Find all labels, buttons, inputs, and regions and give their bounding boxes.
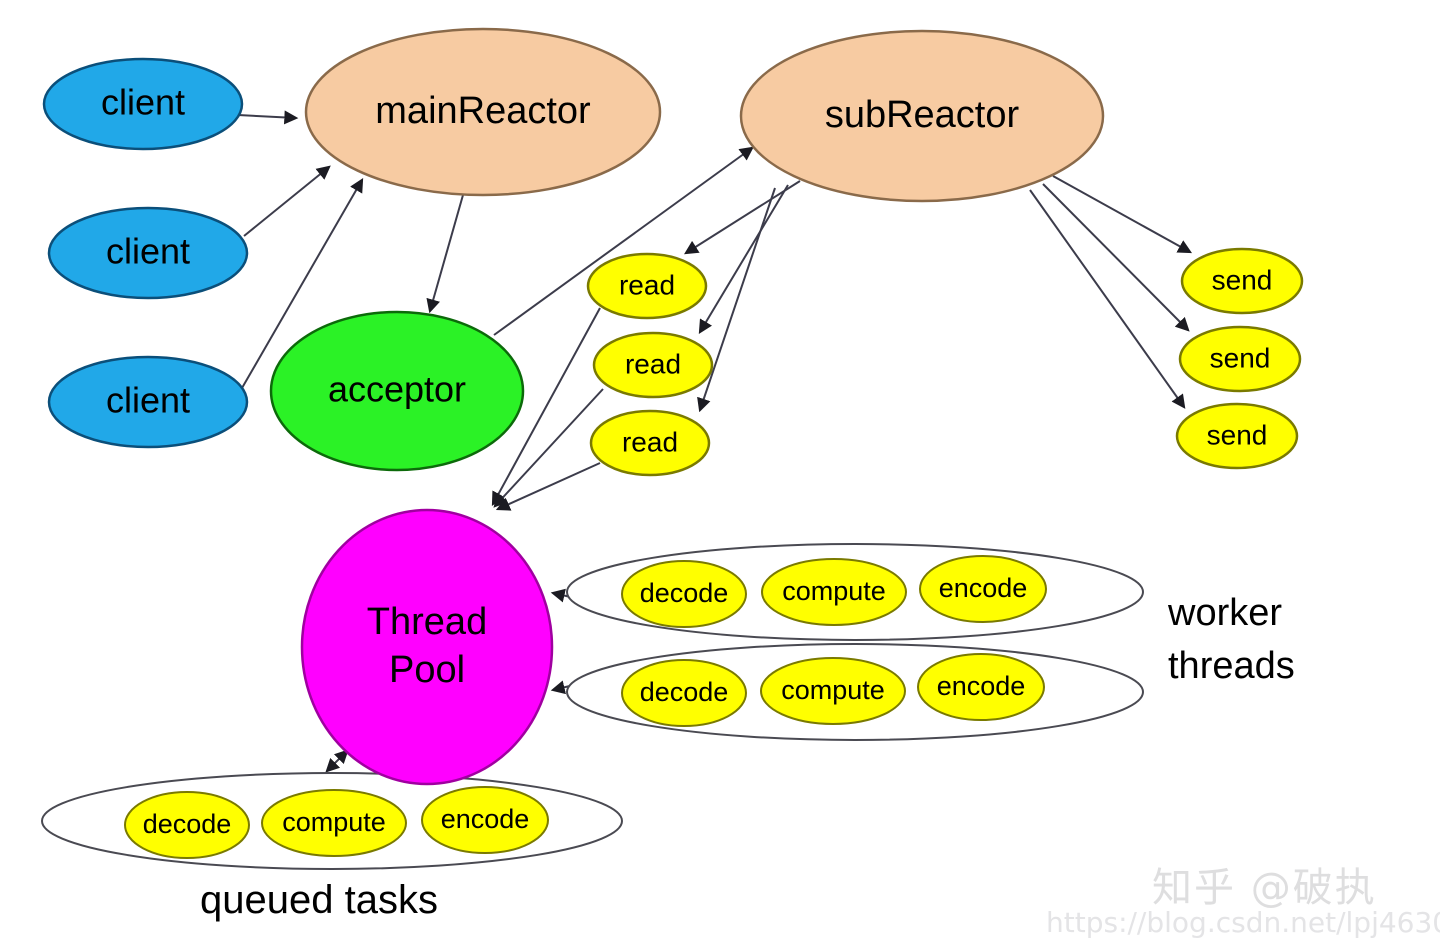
task-node-q-encode-shape [422,787,548,853]
edge-threadpool-to-queued [327,751,347,771]
task-node-w2-encode[interactable]: encode [918,654,1044,720]
client-node-client-2-shape [49,208,247,298]
reactor-pattern-diagram: decodecomputeencodedecodecomputeencodede… [0,0,1440,951]
task-node-q-decode-shape [125,792,249,858]
client-node-client-2[interactable]: client [49,208,247,298]
edge-subreactor-to-send2 [1043,184,1188,330]
sub-reactor-node-shape [741,31,1103,201]
client-node-client-1[interactable]: client [44,59,242,149]
edge-client2-to-mainreactor [244,167,329,236]
task-node-w1-compute[interactable]: compute [762,559,906,625]
client-node-client-3-shape [49,357,247,447]
diagram-canvas: decodecomputeencodedecodecomputeencodede… [0,0,1440,951]
task-node-w2-compute-shape [761,658,905,724]
send-node-send-1-shape [1182,249,1302,313]
task-node-w1-encode-shape [920,556,1046,622]
task-node-w2-decode-shape [622,660,746,726]
client-node-client-1-shape [44,59,242,149]
worker-threads-label-line2: threads [1168,645,1295,687]
send-node-send-3[interactable]: send [1177,404,1297,468]
group-ring-layer: decodecomputeencodedecodecomputeencodede… [42,544,1143,869]
task-node-w1-compute-shape [762,559,906,625]
send-node-send-2-shape [1180,327,1300,391]
read-node-read-2[interactable]: read [594,333,712,397]
worker-threads-label-line1: worker [1167,592,1282,634]
send-node-send-2[interactable]: send [1180,327,1300,391]
task-node-w1-encode[interactable]: encode [920,556,1046,622]
task-node-q-decode[interactable]: decode [125,792,249,858]
read-node-read-3[interactable]: read [591,411,709,475]
send-node-send-3-shape [1177,404,1297,468]
zhihu-watermark: 知乎 @破执 [1152,865,1377,911]
task-node-q-compute[interactable]: compute [262,790,406,856]
read-node-read-1[interactable]: read [588,254,706,318]
task-node-w2-compute[interactable]: compute [761,658,905,724]
client-node-client-3[interactable]: client [49,357,247,447]
task-node-w2-encode-shape [918,654,1044,720]
csdn-url-watermark: https://blog.csdn.net/lpj463061655 [1046,906,1440,939]
queued-tasks-label: queued tasks [200,878,438,922]
task-node-w2-decode[interactable]: decode [622,660,746,726]
edge-subreactor-to-send3 [1030,190,1184,407]
thread-pool-node[interactable]: ThreadPool [302,510,552,784]
thread-pool-node-shape [302,510,552,784]
edge-mainreactor-to-acceptor [430,195,463,311]
acceptor-node-shape [271,312,523,470]
main-reactor-node[interactable]: mainReactor [306,29,660,195]
task-node-q-encode[interactable]: encode [422,787,548,853]
main-reactor-node-shape [306,29,660,195]
read-node-read-3-shape [591,411,709,475]
sub-reactor-node[interactable]: subReactor [741,31,1103,201]
task-node-w1-decode-shape [622,561,746,627]
task-node-w1-decode[interactable]: decode [622,561,746,627]
task-node-q-compute-shape [262,790,406,856]
edge-subreactor-to-read2 [700,185,788,332]
send-node-send-1[interactable]: send [1182,249,1302,313]
acceptor-node[interactable]: acceptor [271,312,523,470]
read-node-read-2-shape [594,333,712,397]
read-node-read-1-shape [588,254,706,318]
edge-client1-to-mainreactor [238,115,296,118]
